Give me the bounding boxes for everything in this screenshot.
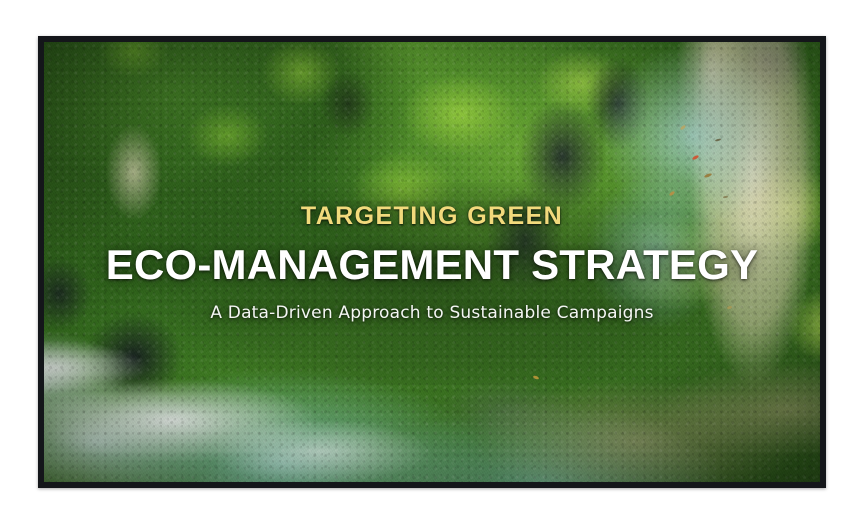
subtitle-text: A Data-Driven Approach to Sustainable Ca… xyxy=(44,303,820,323)
slide-canvas: TARGETING GREEN ECO-MANAGEMENT STRATEGY … xyxy=(0,0,864,527)
title-block: TARGETING GREEN ECO-MANAGEMENT STRATEGY … xyxy=(44,202,820,324)
eyebrow-text: TARGETING GREEN xyxy=(44,202,820,231)
page-title: ECO-MANAGEMENT STRATEGY xyxy=(44,240,820,290)
slide-image-frame: TARGETING GREEN ECO-MANAGEMENT STRATEGY … xyxy=(38,36,826,488)
